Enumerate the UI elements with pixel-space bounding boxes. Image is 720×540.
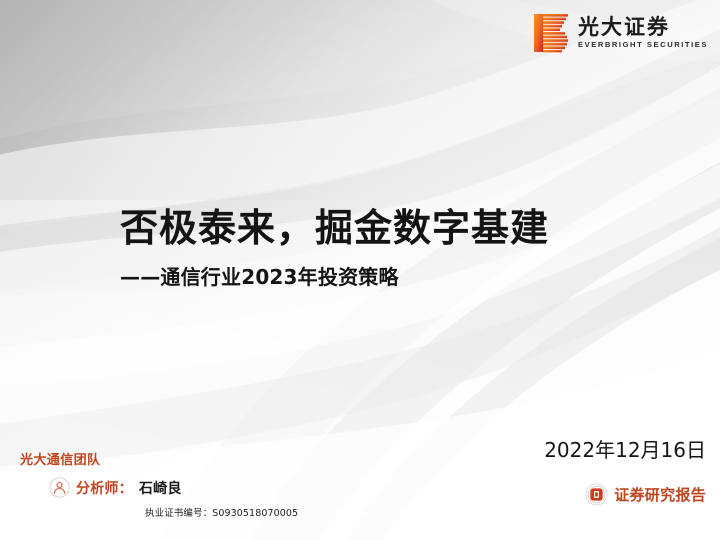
team-name: 光大通信团队 (20, 449, 360, 468)
brand-logo: 光大证券 EVERBRIGHT SECURITIES (533, 11, 708, 55)
report-tag: 证券研究报告 (585, 483, 706, 506)
title-block: 否极泰来，掘金数字基建 ——通信行业2023年投资策略 (120, 207, 680, 290)
person-avatar-icon (49, 477, 70, 498)
team-block: 光大通信团队 分析师： 石崎良 执业证书编号：S0930518070005 (20, 449, 360, 519)
analyst-name: 石崎良 (139, 478, 182, 498)
everbright-e-logo-icon (533, 13, 569, 53)
brand-logo-text: 光大证券 EVERBRIGHT SECURITIES (578, 17, 708, 49)
certificate-number: 执业证书编号：S0930518070005 (145, 505, 360, 519)
page-title: 否极泰来，掘金数字基建 (120, 207, 680, 250)
brand-name-cn: 光大证券 (578, 17, 708, 38)
page-subtitle: ——通信行业2023年投资策略 (120, 261, 680, 290)
report-tag-label: 证券研究报告 (614, 484, 706, 505)
report-cover-slide: 光大证券 EVERBRIGHT SECURITIES 否极泰来，掘金数字基建 —… (0, 0, 720, 540)
brand-name-en: EVERBRIGHT SECURITIES (578, 41, 708, 49)
report-date: 2022年12月16日 (544, 434, 706, 463)
analyst-row: 分析师： 石崎良 (49, 477, 360, 498)
report-seal-icon (585, 483, 608, 506)
analyst-label: 分析师： (76, 478, 133, 498)
